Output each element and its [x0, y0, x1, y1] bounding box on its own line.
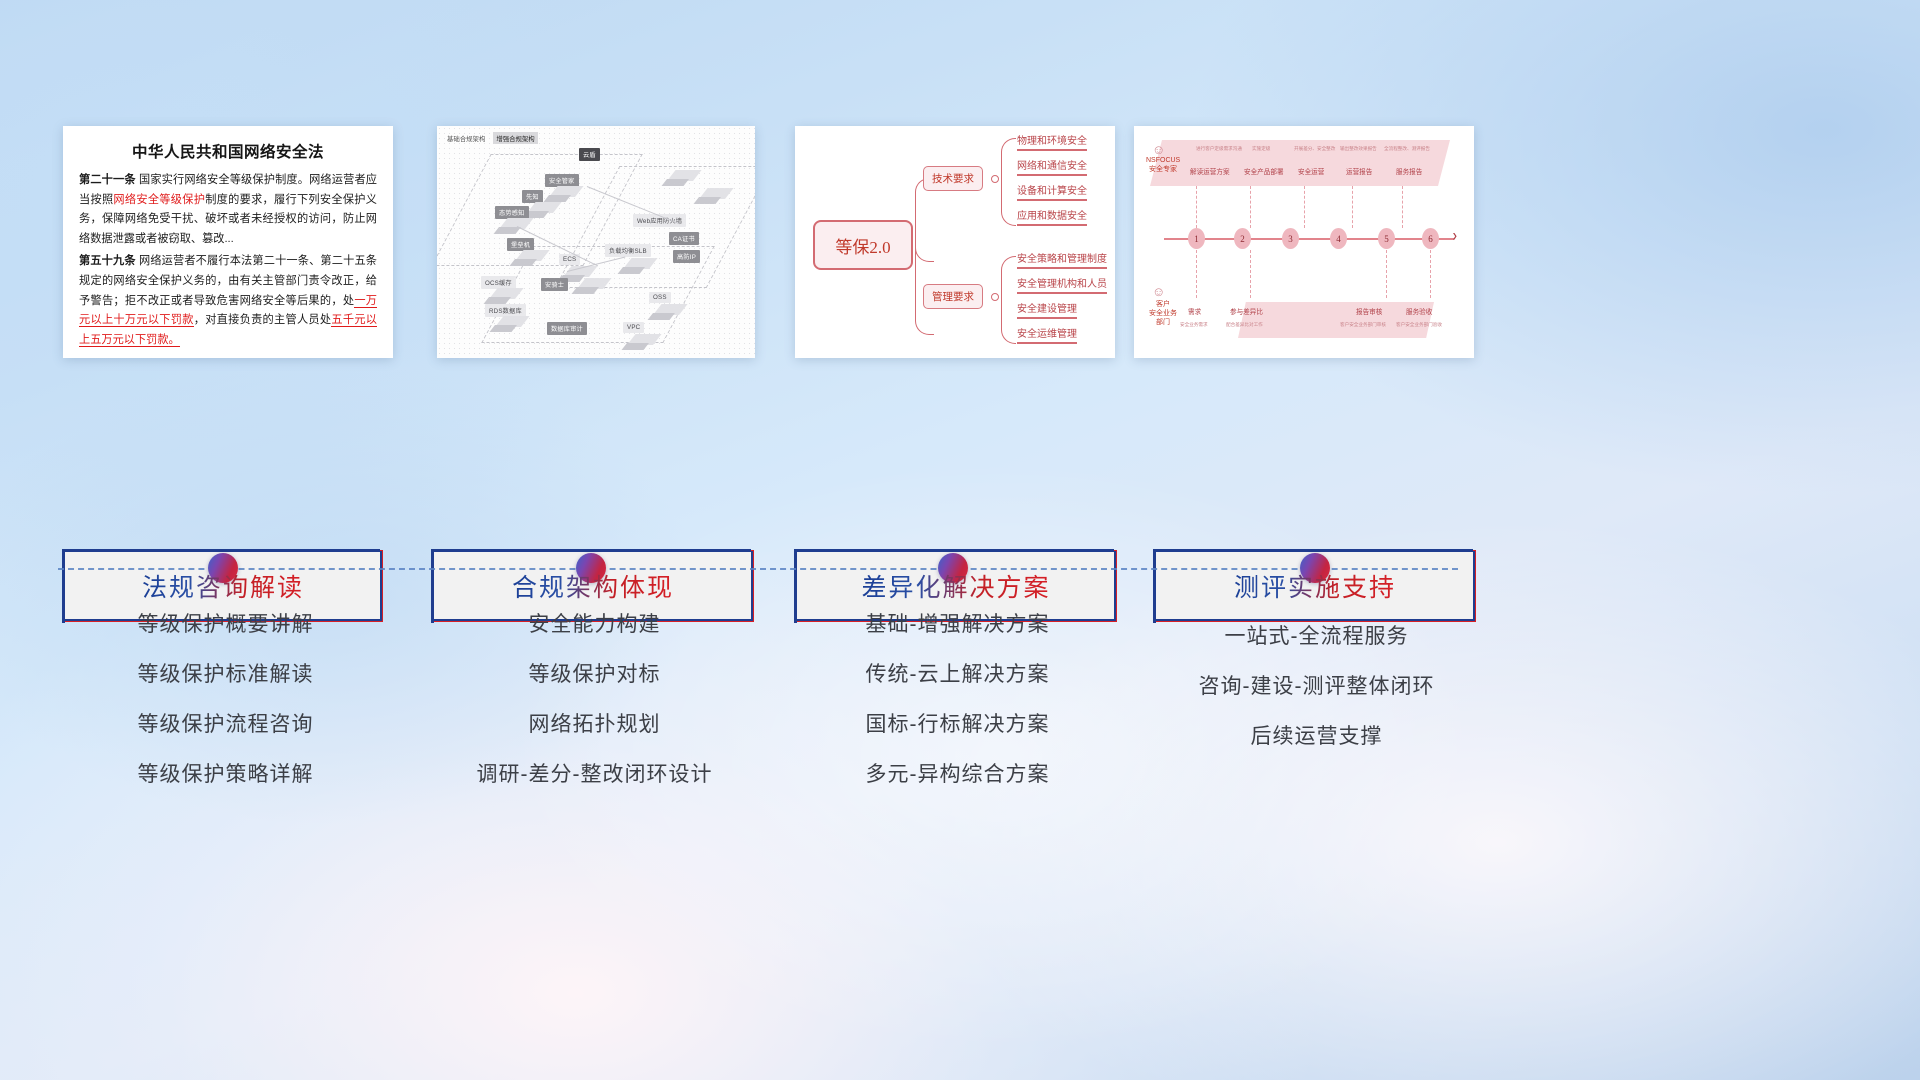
list-item: 咨询-建设-测评整体闭环 — [1154, 662, 1479, 712]
list-item: 多元-异构综合方案 — [795, 750, 1120, 800]
list-item: 安全能力构建 — [432, 600, 757, 650]
list-item: 后续运营支撑 — [1154, 712, 1479, 762]
heading-label-3: 测评实施支持 — [1234, 568, 1396, 604]
list-item: 传统-云上解决方案 — [795, 650, 1120, 700]
list-item: 网络拓扑规划 — [432, 700, 757, 750]
items-column-2: 基础-增强解决方案 传统-云上解决方案 国标-行标解决方案 多元-异构综合方案 — [795, 600, 1120, 800]
list-item: 等级保护策略详解 — [63, 750, 388, 800]
items-column-3: 一站式-全流程服务 咨询-建设-测评整体闭环 后续运营支撑 — [1154, 612, 1479, 762]
list-item: 基础-增强解决方案 — [795, 600, 1120, 650]
list-item: 等级保护标准解读 — [63, 650, 388, 700]
list-item: 等级保护对标 — [432, 650, 757, 700]
list-item: 等级保护概要讲解 — [63, 600, 388, 650]
list-item: 国标-行标解决方案 — [795, 700, 1120, 750]
heading-label-1: 合规架构体现 — [512, 568, 674, 604]
heading-label-2: 差异化解决方案 — [861, 568, 1050, 604]
list-item: 等级保护流程咨询 — [63, 700, 388, 750]
heading-label-0: 法规咨询解读 — [142, 568, 304, 604]
items-column-1: 安全能力构建 等级保护对标 网络拓扑规划 调研-差分-整改闭环设计 — [432, 600, 757, 800]
section-headings-row: 法规咨询解读 合规架构体现 差异化解决方案 测评实施支持 — [0, 0, 1920, 1080]
list-item: 一站式-全流程服务 — [1154, 612, 1479, 662]
items-column-0: 等级保护概要讲解 等级保护标准解读 等级保护流程咨询 等级保护策略详解 — [63, 600, 388, 800]
list-item: 调研-差分-整改闭环设计 — [432, 750, 757, 800]
